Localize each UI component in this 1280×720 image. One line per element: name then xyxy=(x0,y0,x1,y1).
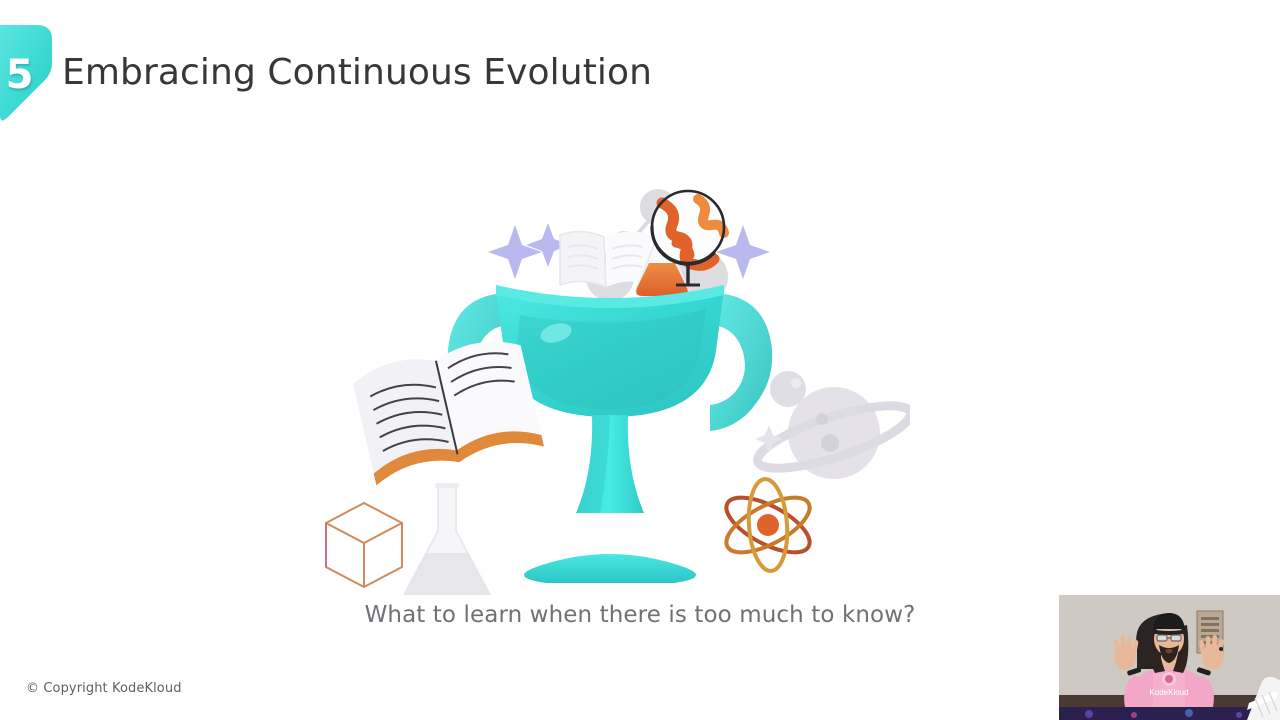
presenter-webcam-overlay[interactable]: KodeKloud xyxy=(1059,595,1280,720)
moon xyxy=(770,371,806,407)
desk-mat xyxy=(1059,707,1280,720)
section-number-label: 5 xyxy=(0,25,38,125)
wireframe-cube xyxy=(326,503,402,587)
page-title: Embracing Continuous Evolution xyxy=(62,52,652,93)
shirt-logo-text: KodeKloud xyxy=(1149,688,1188,697)
erlenmeyer-flask xyxy=(403,483,492,595)
cup-base xyxy=(524,554,696,583)
knowledge-cup-svg xyxy=(310,165,910,595)
sparkle-left-1 xyxy=(488,225,542,279)
open-book xyxy=(350,334,544,486)
section-number-badge: 5 xyxy=(0,25,52,125)
cup-stem xyxy=(576,415,644,513)
open-book-inside xyxy=(560,231,650,287)
presenter-head xyxy=(1150,613,1189,673)
presenter-webcam-image: KodeKloud xyxy=(1059,595,1280,720)
atom xyxy=(718,478,817,572)
slide-header: 5 Embracing Continuous Evolution xyxy=(0,0,1280,150)
knowledge-cup-illustration xyxy=(310,165,910,595)
copyright-footer: © Copyright KodeKloud xyxy=(26,681,182,696)
